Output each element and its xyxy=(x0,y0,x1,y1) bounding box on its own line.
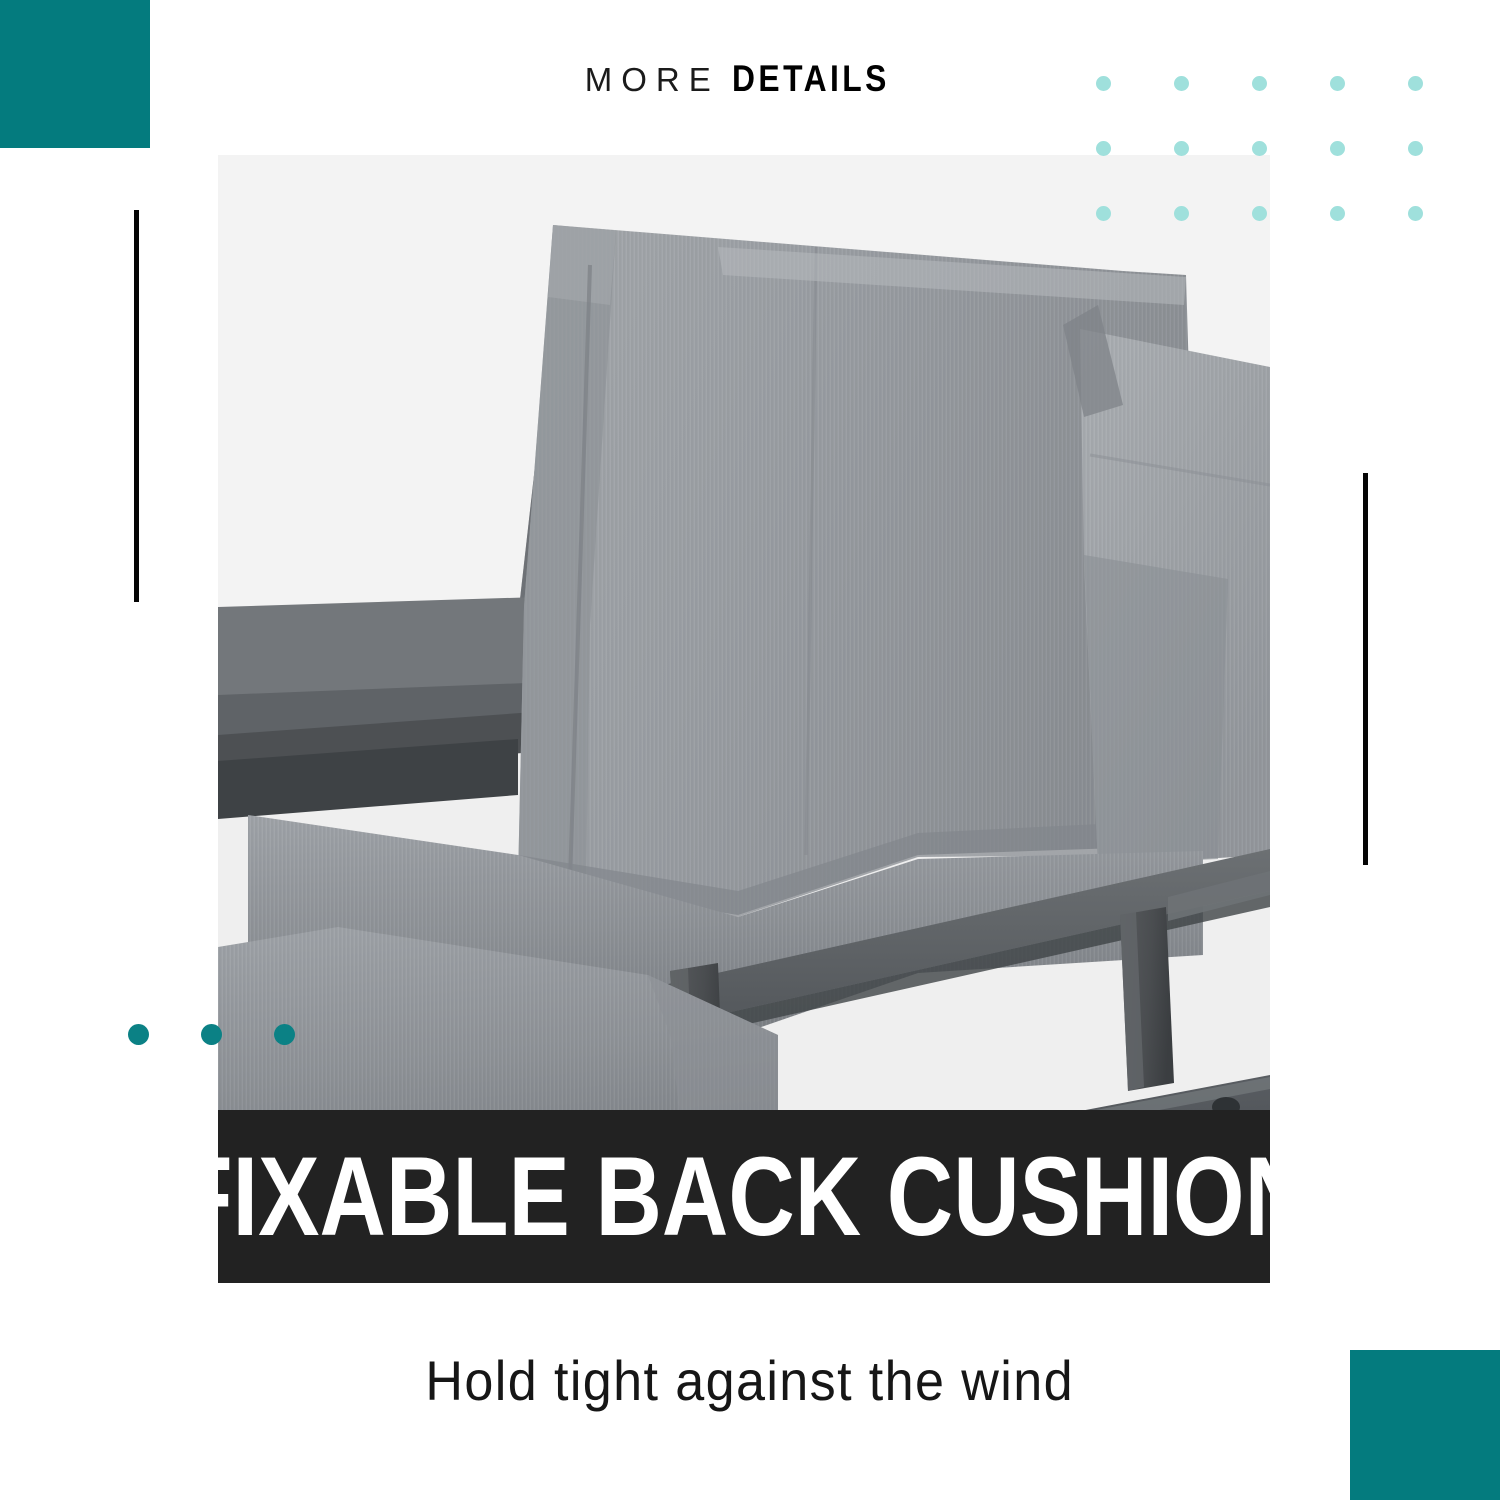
decorative-dot-grid xyxy=(1096,76,1486,271)
header-word-more: MORE xyxy=(585,61,720,98)
caption-banner: FIXABLE BACK CUSHION xyxy=(218,1110,1270,1283)
dot-icon xyxy=(1252,141,1267,156)
dot-icon xyxy=(1330,76,1345,91)
dot-icon xyxy=(1096,206,1111,221)
caption-banner-text: FIXABLE BACK CUSHION xyxy=(218,1141,1270,1253)
dot-icon xyxy=(1252,76,1267,91)
dot-icon xyxy=(1330,206,1345,221)
dot-icon xyxy=(1408,141,1423,156)
vertical-rule-left xyxy=(134,210,139,602)
decorative-dot-row xyxy=(128,1024,295,1045)
dot-icon xyxy=(1330,141,1345,156)
dot-icon xyxy=(1096,76,1111,91)
dot-icon xyxy=(1252,206,1267,221)
dot-icon xyxy=(1408,206,1423,221)
dot-icon xyxy=(1174,76,1189,91)
dot-icon xyxy=(1174,141,1189,156)
dot-icon xyxy=(1174,206,1189,221)
dot-icon xyxy=(1096,141,1111,156)
dot-icon xyxy=(274,1024,295,1045)
dot-icon xyxy=(1408,76,1423,91)
subtitle-text: Hold tight against the wind xyxy=(426,1348,1075,1413)
header-word-details: DETAILS xyxy=(732,58,890,100)
dot-icon xyxy=(201,1024,222,1045)
subtitle: Hold tight against the wind xyxy=(0,1348,1500,1413)
dot-icon xyxy=(128,1024,149,1045)
vertical-rule-right xyxy=(1363,473,1368,865)
